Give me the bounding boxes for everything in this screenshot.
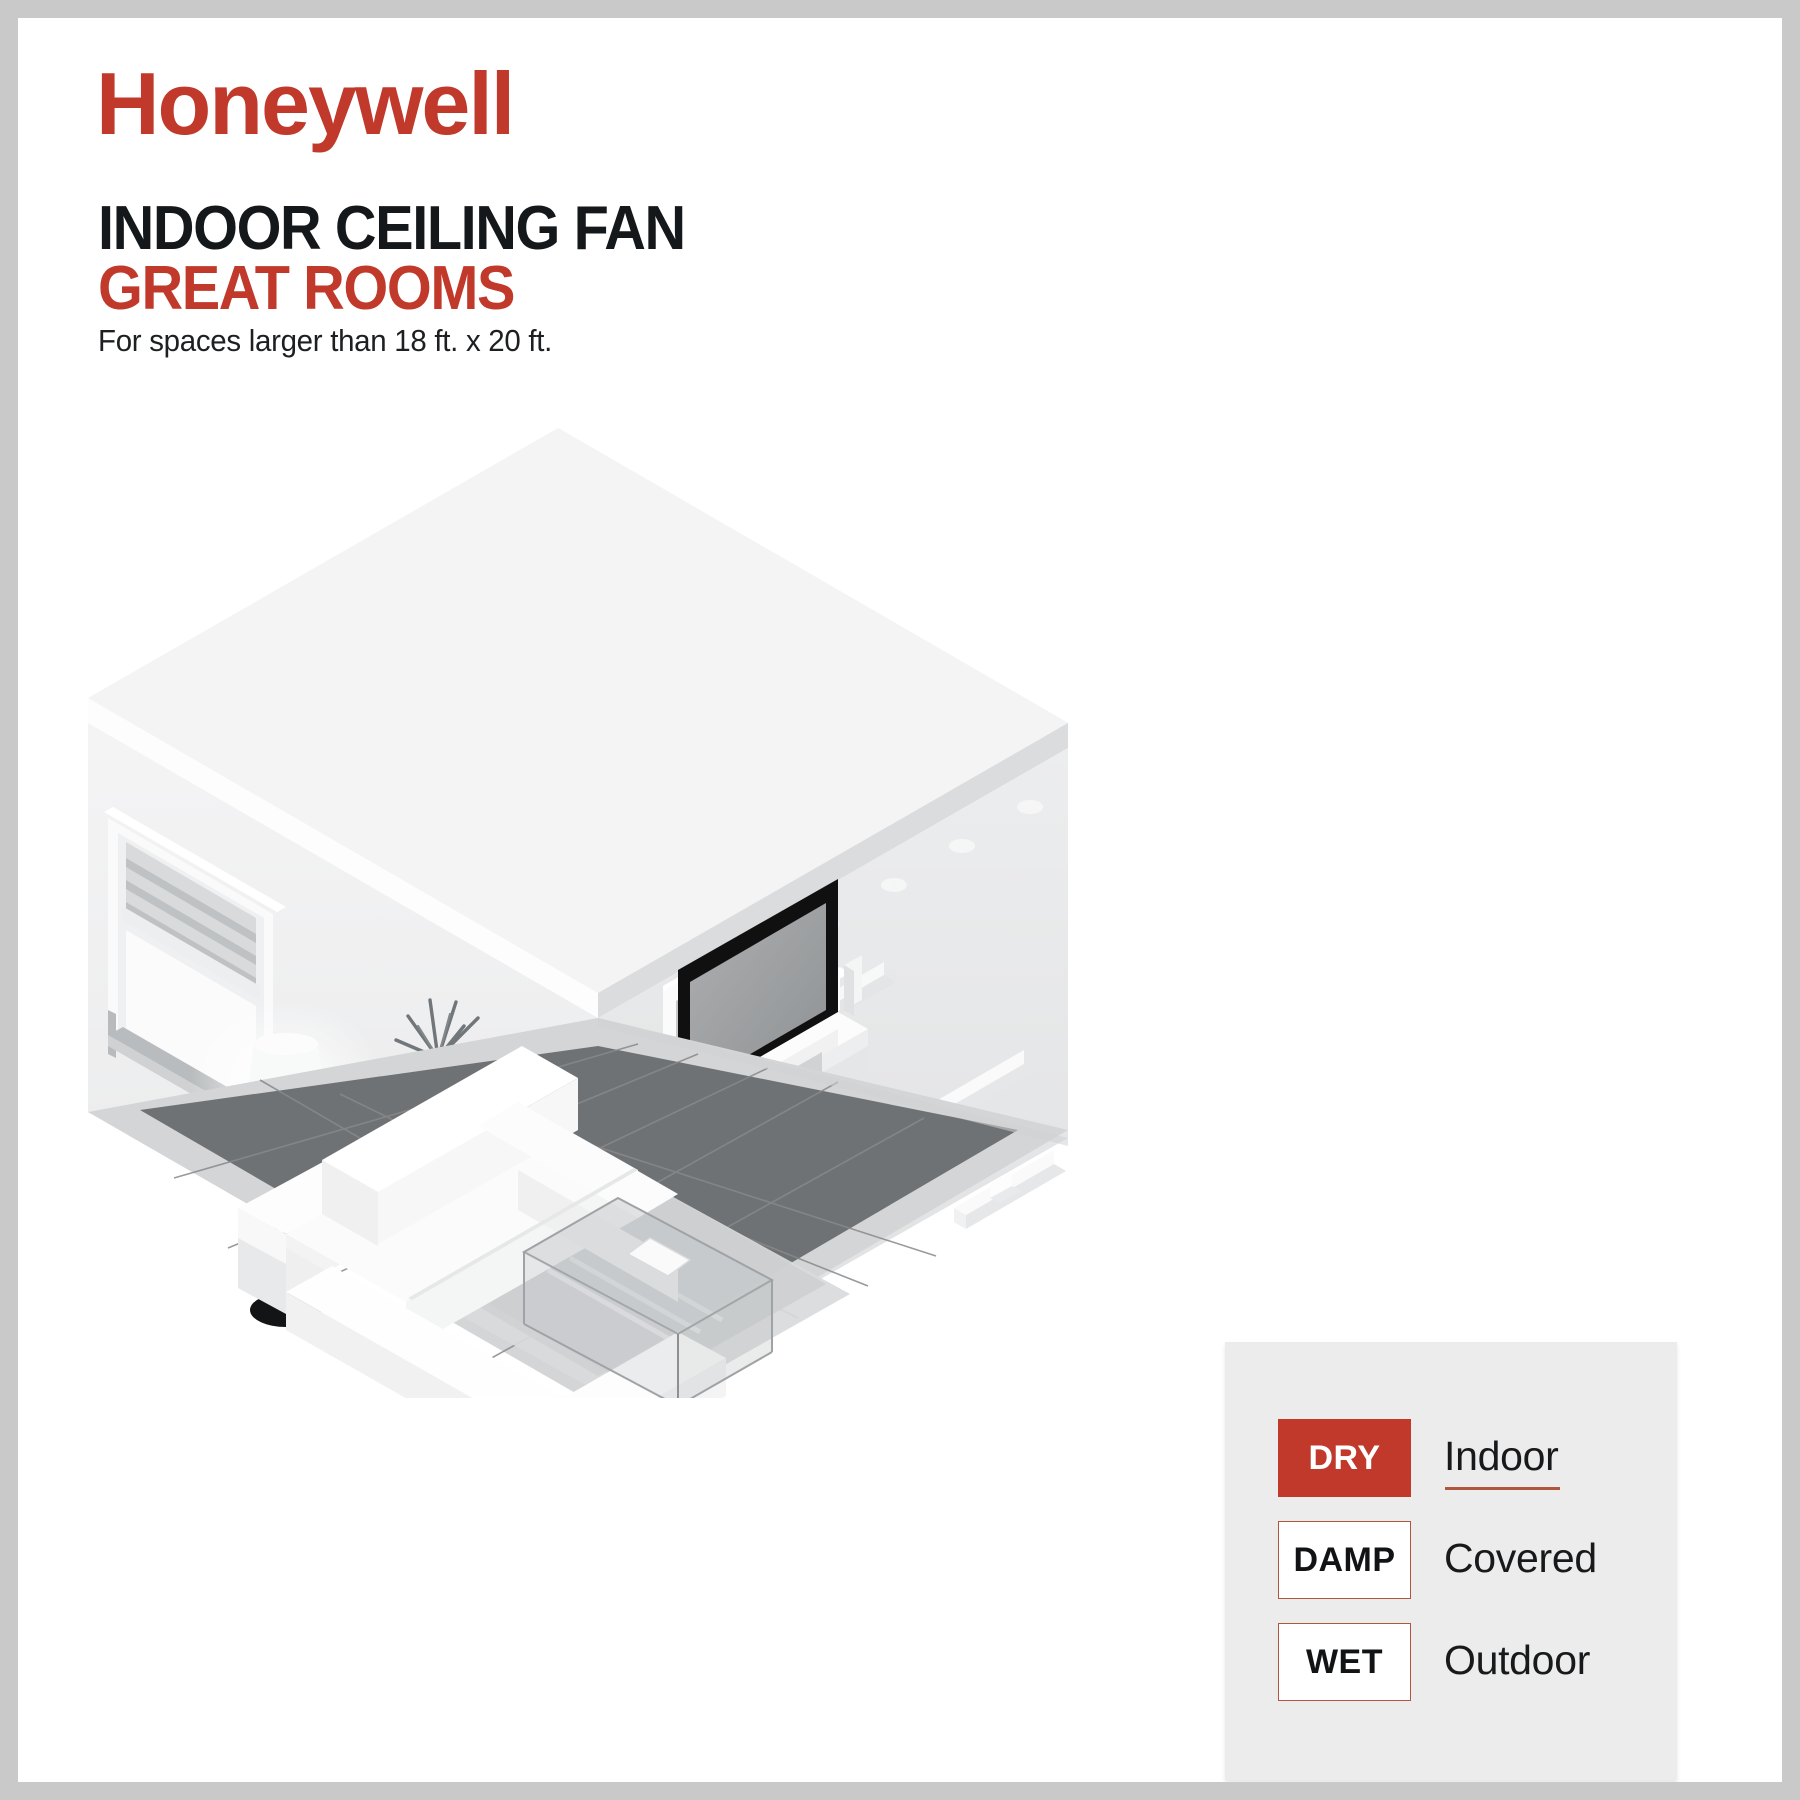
headline-secondary: GREAT ROOMS [98, 258, 514, 320]
badge-damp: DAMP [1278, 1521, 1411, 1599]
honeywell-logo: Honeywell [96, 60, 513, 148]
rating-legend-panel: DRY Indoor DAMP Covered WET Outdoor [1225, 1342, 1677, 1780]
isometric-room-illustration [78, 418, 1098, 1398]
headline-primary: INDOOR CEILING FAN [98, 198, 685, 260]
badge-dry: DRY [1278, 1419, 1411, 1497]
legend-label-indoor: Indoor [1444, 1433, 1558, 1484]
legend-row-list: DRY Indoor DAMP Covered WET Outdoor [1278, 1418, 1597, 1702]
legend-label-outdoor: Outdoor [1444, 1637, 1590, 1688]
legend-row-wet[interactable]: WET Outdoor [1278, 1622, 1597, 1702]
legend-label-covered: Covered [1444, 1535, 1597, 1586]
badge-wet: WET [1278, 1623, 1411, 1701]
subtitle-text: For spaces larger than 18 ft. x 20 ft. [98, 323, 552, 359]
legend-row-damp[interactable]: DAMP Covered [1278, 1520, 1597, 1600]
poster-canvas: Honeywell INDOOR CEILING FAN GREAT ROOMS… [18, 18, 1782, 1782]
legend-row-dry[interactable]: DRY Indoor [1278, 1418, 1597, 1498]
